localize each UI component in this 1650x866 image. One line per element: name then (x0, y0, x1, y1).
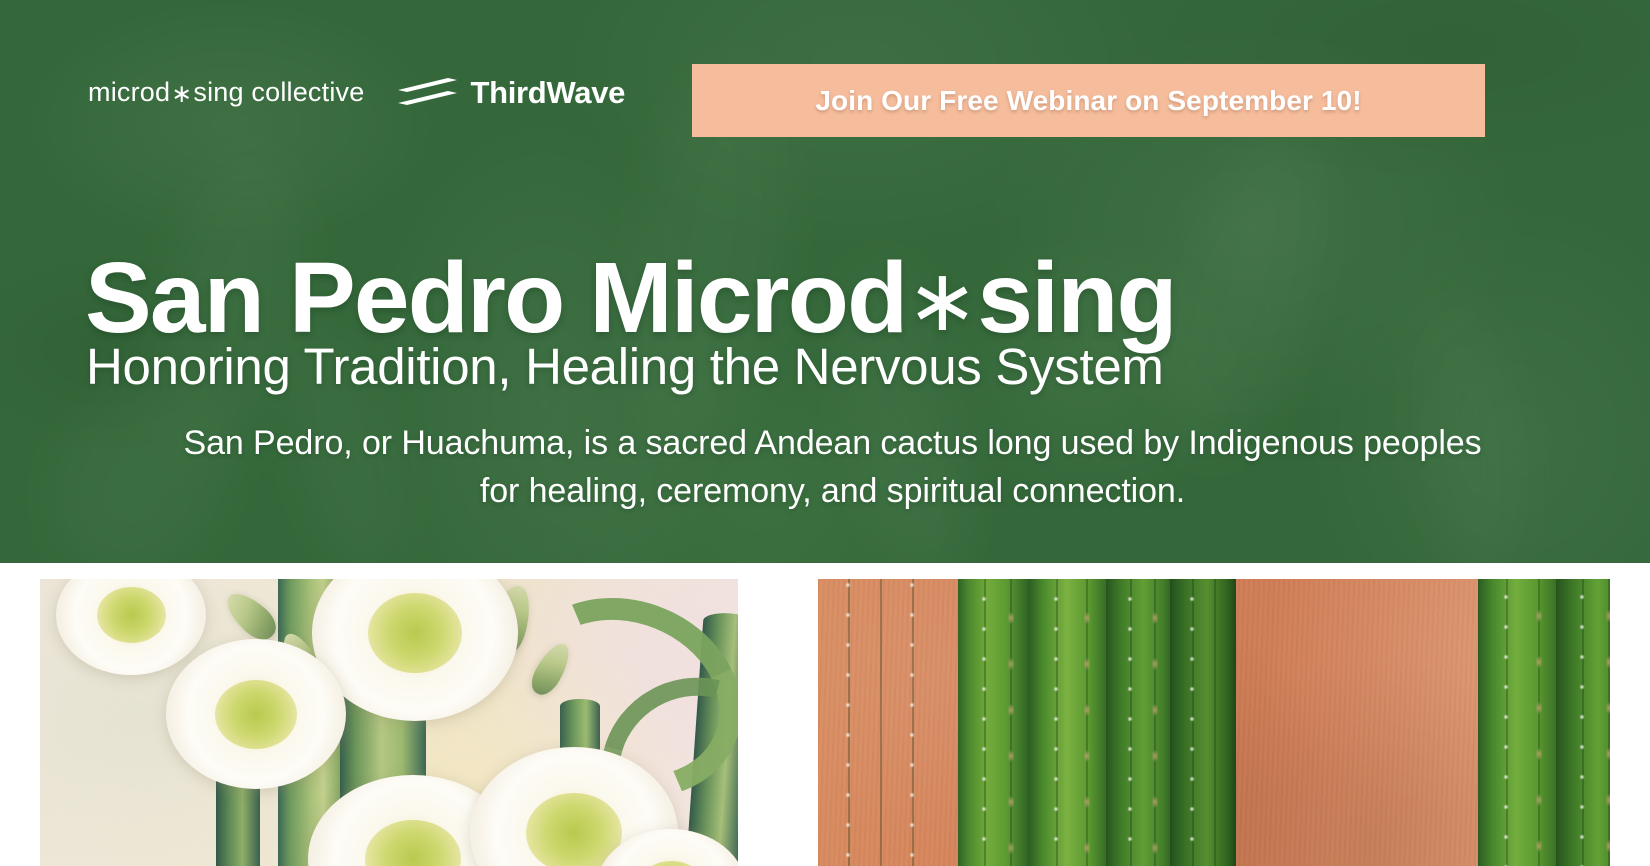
san-pedro-microdosing-banner: microd∗sing collective ThirdWave Join Ou… (0, 0, 1650, 866)
webinar-cta-label: Join Our Free Webinar on September 10! (815, 85, 1361, 117)
photo-blooming-san-pedro (40, 579, 738, 866)
thirdwave-name: ThirdWave (470, 77, 625, 108)
page-title: San Pedro Microd∗sing (85, 245, 1176, 351)
thirdwave-logo[interactable]: ThirdWave (396, 76, 625, 109)
wordmark-text-post: sing collective (193, 77, 364, 107)
photo-divider (773, 563, 775, 866)
cactus-column (1556, 579, 1610, 866)
cactus-column (1106, 579, 1178, 866)
asterisk-icon-large: ∗ (906, 256, 977, 347)
cactus-column (1028, 579, 1112, 866)
cactus-column (1478, 579, 1564, 866)
cactus-column (1170, 579, 1236, 866)
headline-text-post: sing (977, 242, 1175, 354)
photo-strip (0, 563, 1650, 866)
wordmark-text-pre: microd (88, 77, 170, 107)
hero-description: San Pedro, or Huachuma, is a sacred Ande… (170, 419, 1495, 516)
microdosing-collective-wordmark[interactable]: microd∗sing collective (88, 79, 364, 107)
hero-section: microd∗sing collective ThirdWave Join Ou… (0, 0, 1650, 563)
headline-text-pre: San Pedro Microd (85, 242, 906, 354)
cactus-column (958, 579, 1036, 866)
webinar-cta-banner[interactable]: Join Our Free Webinar on September 10! (692, 64, 1485, 137)
thirdwave-wave-mark-icon (396, 76, 459, 109)
page-subtitle: Honoring Tradition, Healing the Nervous … (86, 339, 1164, 395)
brand-lockup: microd∗sing collective ThirdWave (88, 76, 625, 109)
photo-cactus-terracotta-wall (818, 579, 1610, 866)
cactus-flower (166, 639, 346, 789)
asterisk-icon: ∗ (170, 82, 193, 107)
